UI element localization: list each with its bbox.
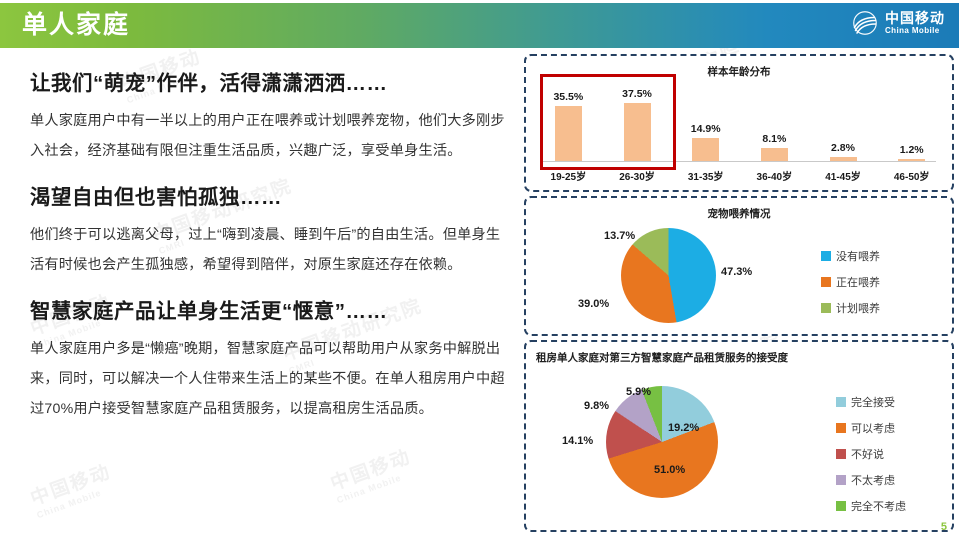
chart-panel-age-distribution: 样本年龄分布 35.5%37.5%14.9%8.1%2.8%1.2% 19-25… [524, 54, 954, 192]
bar-chart-axis-line [542, 161, 936, 162]
chart-panel-pet-feeding: 宠物喂养情况 47.3% 39.0% 13.7% 没有喂养正在喂养计划喂养 [524, 196, 954, 336]
legend-item: 不太考虑 [836, 472, 906, 488]
chart-panel-rental-acceptance: 租房单人家庭对第三方智慧家庭产品租赁服务的接受度 19.2% 51.0% 14.… [524, 340, 954, 532]
page-number: 5 [941, 521, 947, 533]
bar [692, 138, 719, 161]
bar-value-label: 8.1% [742, 133, 806, 145]
logo-text-cn: 中国移动 [885, 11, 945, 25]
bar-chart-plot: 35.5%37.5%14.9%8.1%2.8%1.2% [534, 82, 946, 162]
legend-label: 正在喂养 [836, 274, 880, 290]
legend-swatch-icon [836, 423, 846, 433]
bar-column [605, 103, 669, 161]
bar-column [674, 138, 738, 161]
section-body: 单人家庭用户中有一半以上的用户正在喂养或计划喂养宠物，他们大多刚步入社会，经济基… [30, 106, 510, 166]
watermark: 中国移动China Mobile [26, 457, 118, 521]
legend-swatch-icon [836, 501, 846, 511]
legend-swatch-icon [821, 303, 831, 313]
pie-chart-pet-feeding [621, 228, 716, 323]
legend-item: 正在喂养 [821, 274, 880, 290]
bar-value-label: 14.9% [674, 123, 738, 135]
china-mobile-logo-icon [852, 11, 878, 35]
legend-swatch-icon [836, 397, 846, 407]
legend-swatch-icon [821, 277, 831, 287]
pie-slice-label: 19.2% [668, 422, 699, 434]
chart-title: 宠物喂养情况 [526, 206, 952, 221]
pie-chart-rental-acceptance [606, 386, 718, 498]
legend-label: 计划喂养 [836, 300, 880, 316]
legend-item: 不好说 [836, 446, 906, 462]
bar [624, 103, 651, 161]
bar-category-label: 46-50岁 [880, 168, 944, 183]
legend-swatch-icon [821, 251, 831, 261]
bar-category-label: 19-25岁 [536, 168, 600, 183]
section-heading: 让我们“萌宠”作伴，活得潇潇洒洒…… [30, 66, 510, 96]
section-heading: 智慧家庭产品让单身生活更“惬意”…… [30, 294, 510, 324]
pie-slice-label: 39.0% [578, 298, 609, 310]
legend-swatch-icon [836, 449, 846, 459]
bar-column [880, 159, 944, 161]
legend-swatch-icon [836, 475, 846, 485]
content-column: 让我们“萌宠”作伴，活得潇潇洒洒…… 单人家庭用户中有一半以上的用户正在喂养或计… [30, 66, 510, 438]
section-body: 他们终于可以逃离父母，过上“嗨到凌晨、睡到午后”的自由生活。但单身生活有时候也会… [30, 220, 510, 280]
legend-label: 完全不考虑 [851, 498, 906, 514]
bar-category-label: 36-40岁 [742, 168, 806, 183]
pie-slice-label: 13.7% [604, 230, 635, 242]
bar-category-label: 41-45岁 [811, 168, 875, 183]
legend-label: 不好说 [851, 446, 884, 462]
chart-legend-pet-feeding: 没有喂养正在喂养计划喂养 [821, 248, 880, 326]
bar-category-label: 31-35岁 [674, 168, 738, 183]
bar-value-label: 37.5% [605, 88, 669, 100]
section-freedom: 渴望自由但也害怕孤独…… 他们终于可以逃离父母，过上“嗨到凌晨、睡到午后”的自由… [30, 180, 510, 280]
bar-chart-category-axis: 19-25岁26-30岁31-35岁36-40岁41-45岁46-50岁 [534, 168, 946, 188]
bar [898, 159, 925, 161]
bar-column [536, 106, 600, 161]
bar-category-label: 26-30岁 [605, 168, 669, 183]
bar [555, 106, 582, 161]
section-body: 单人家庭用户多是“懒癌”晚期，智慧家庭产品可以帮助用户从家务中解脱出来，同时，可… [30, 334, 510, 424]
page-title: 单人家庭 [22, 10, 130, 40]
legend-item: 计划喂养 [821, 300, 880, 316]
bar-column [742, 148, 806, 161]
legend-label: 没有喂养 [836, 248, 880, 264]
slide-root: 中国移动China Mobile 中国移动研究院CMRI 中国移动China M… [0, 0, 959, 539]
chart-title: 样本年龄分布 [526, 64, 952, 79]
bar-value-label: 1.2% [880, 144, 944, 156]
bar [761, 148, 788, 161]
pie-slice-label: 51.0% [654, 464, 685, 476]
section-smarthome: 智慧家庭产品让单身生活更“惬意”…… 单人家庭用户多是“懒癌”晚期，智慧家庭产品… [30, 294, 510, 424]
section-heading: 渴望自由但也害怕孤独…… [30, 180, 510, 210]
pie-slice-label: 14.1% [562, 435, 593, 447]
chart-title: 租房单人家庭对第三方智慧家庭产品租赁服务的接受度 [536, 350, 788, 365]
watermark: 中国移动China Mobile [326, 442, 418, 506]
legend-item: 没有喂养 [821, 248, 880, 264]
pie-slice-label: 5.9% [626, 386, 651, 398]
bar-column [811, 157, 875, 161]
brand-logo: 中国移动 China Mobile [852, 11, 945, 35]
pie-slice-label: 9.8% [584, 400, 609, 412]
legend-item: 可以考虑 [836, 420, 906, 436]
legend-item: 完全不考虑 [836, 498, 906, 514]
section-pets: 让我们“萌宠”作伴，活得潇潇洒洒…… 单人家庭用户中有一半以上的用户正在喂养或计… [30, 66, 510, 166]
legend-item: 完全接受 [836, 394, 906, 410]
bar [830, 157, 857, 161]
logo-text-en: China Mobile [885, 27, 945, 35]
chart-legend-rental-acceptance: 完全接受可以考虑不好说不太考虑完全不考虑 [836, 394, 906, 524]
legend-label: 可以考虑 [851, 420, 895, 436]
pie-slice-label: 47.3% [721, 266, 752, 278]
legend-label: 不太考虑 [851, 472, 895, 488]
bar-value-label: 2.8% [811, 142, 875, 154]
bar-value-label: 35.5% [536, 91, 600, 103]
slide-header-band [0, 3, 959, 48]
legend-label: 完全接受 [851, 394, 895, 410]
